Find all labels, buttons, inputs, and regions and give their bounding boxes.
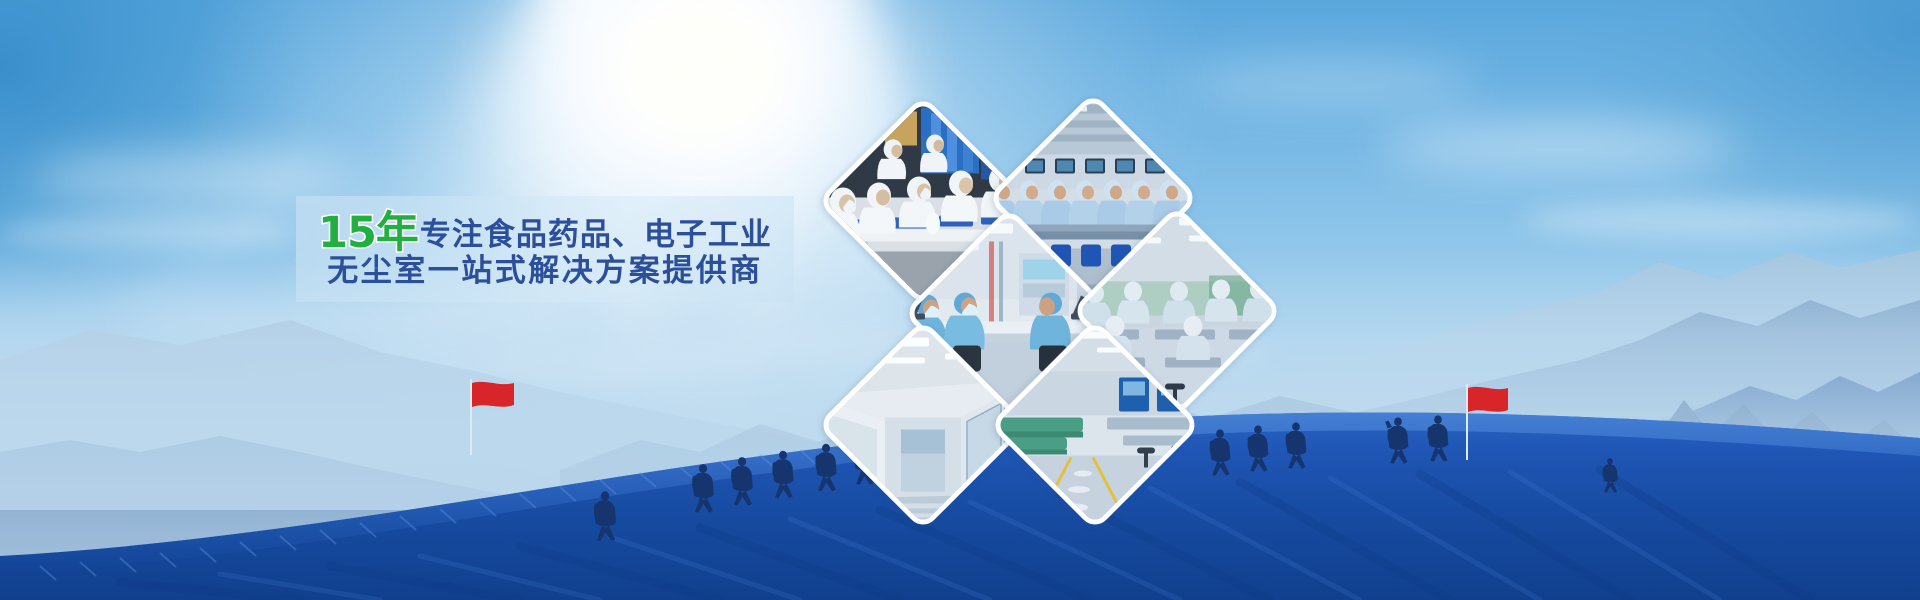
climber <box>1385 417 1408 463</box>
slogan-text-block: 15年 专注食品药品、电子工业 无尘室一站式解决方案提供商 <box>296 196 794 302</box>
years-highlight: 15年 <box>318 212 418 256</box>
flag-icon <box>1468 386 1522 420</box>
slogan-line-2: 无尘室一站式解决方案提供商 <box>327 256 763 288</box>
slogan-line-2-text: 无尘室一站式解决方案提供商 <box>327 256 763 288</box>
climber <box>1428 415 1449 461</box>
slogan-line-1: 15年 专注食品药品、电子工业 <box>318 210 772 254</box>
climber <box>692 464 714 513</box>
summit-flag-right <box>1466 384 1524 460</box>
summit-flag-left <box>470 379 530 455</box>
slogan-line-1-rest: 专注食品药品、电子工业 <box>420 220 772 252</box>
flag-icon <box>472 381 528 415</box>
climber <box>594 491 616 541</box>
climber <box>731 457 753 506</box>
hero-banner: 15年 专注食品药品、电子工业 无尘室一站式解决方案提供商 <box>0 0 1920 600</box>
climber <box>1602 458 1617 493</box>
climber <box>772 451 793 499</box>
cleanroom-photo-diamond-collage <box>830 88 1290 468</box>
